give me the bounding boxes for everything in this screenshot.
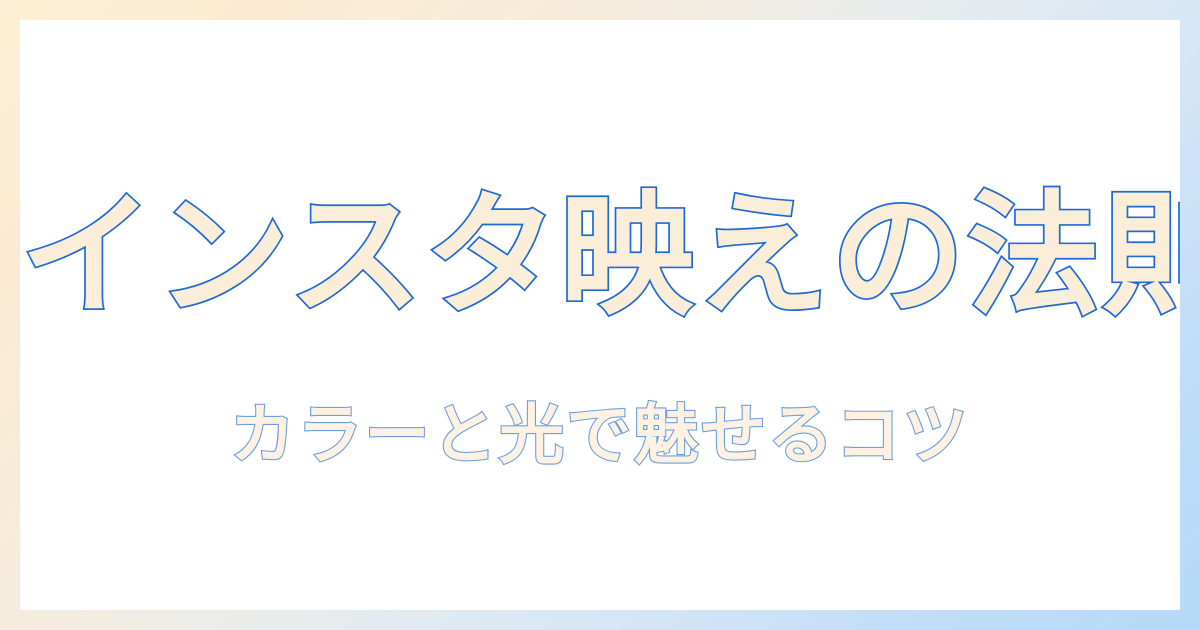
title-block: インスタ映えの法則 — [20, 188, 1180, 325]
page-subtitle: カラーと光で魅せるコツ — [20, 402, 1180, 470]
subtitle-block: カラーと光で魅せるコツ — [20, 402, 1180, 470]
poster-canvas: インスタ映えの法則 カラーと光で魅せるコツ — [0, 0, 1200, 630]
poster-inner-panel: インスタ映えの法則 カラーと光で魅せるコツ — [20, 20, 1180, 610]
page-title: インスタ映えの法則 — [20, 188, 1180, 325]
